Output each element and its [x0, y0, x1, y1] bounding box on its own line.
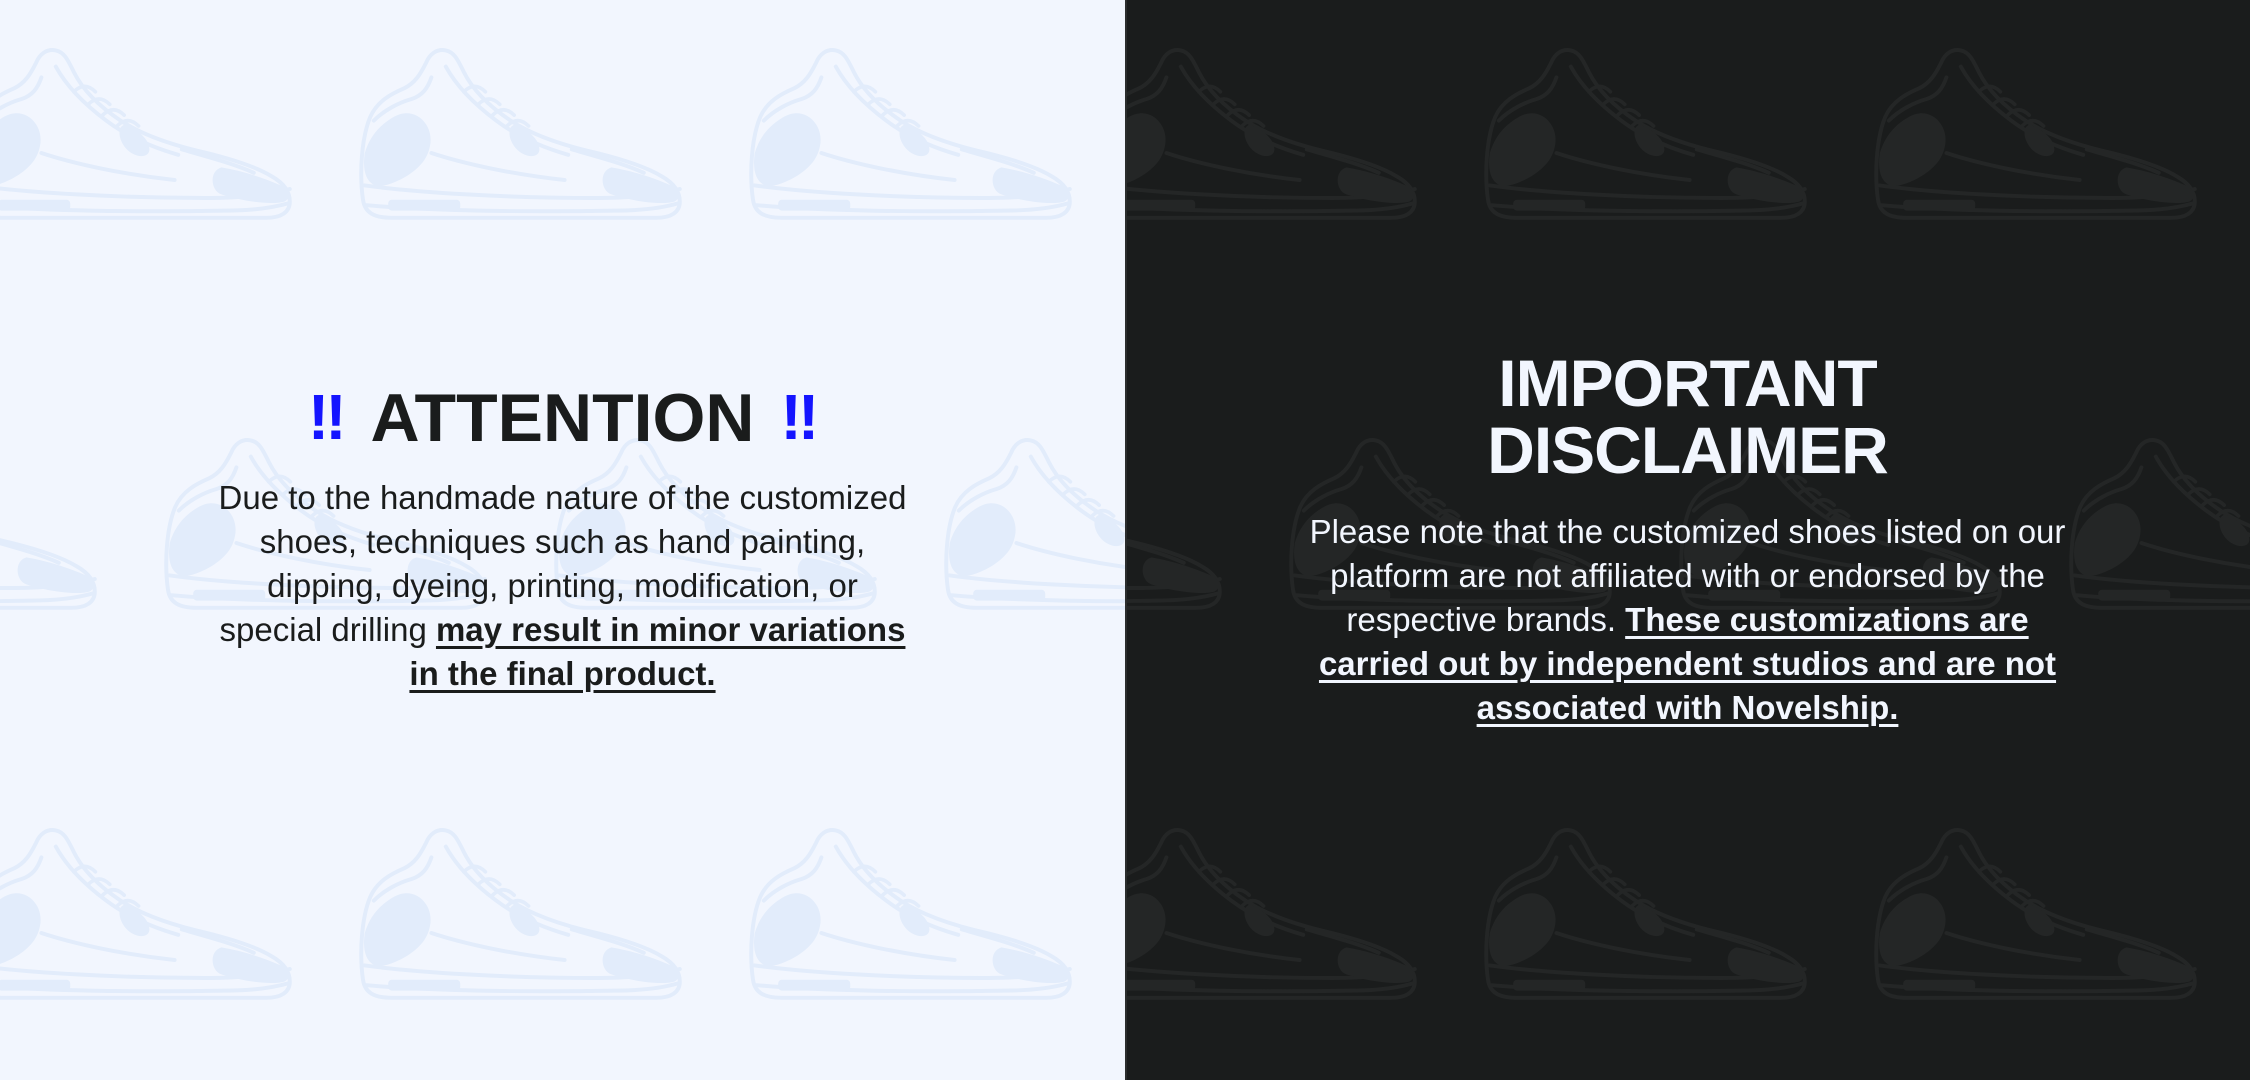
left-panel-content: ‼ ATTENTION ‼ Due to the handmade nature…: [0, 0, 1125, 1080]
panel-divider: [1125, 0, 1127, 1080]
disclaimer-heading: IMPORTANT DISCLAIMER: [1487, 350, 1888, 485]
disclaimer-panel: IMPORTANT DISCLAIMER Please note that th…: [1125, 0, 2250, 1080]
double-exclamation-left-icon: ‼: [308, 385, 345, 449]
disclaimer-banner: ‼ ATTENTION ‼ Due to the handmade nature…: [0, 0, 2255, 1080]
right-panel-content: IMPORTANT DISCLAIMER Please note that th…: [1125, 0, 2250, 1080]
attention-panel: ‼ ATTENTION ‼ Due to the handmade nature…: [0, 0, 1125, 1080]
double-exclamation-right-icon: ‼: [781, 385, 818, 449]
disclaimer-body: Please note that the customized shoes li…: [1288, 510, 2088, 730]
attention-heading-text: ATTENTION: [370, 384, 754, 453]
attention-heading: ‼ ATTENTION ‼: [308, 384, 817, 453]
attention-body-emphasis: may result in minor variations in the fi…: [409, 611, 905, 692]
disclaimer-heading-line-1: IMPORTANT: [1498, 346, 1876, 420]
attention-body: Due to the handmade nature of the custom…: [213, 476, 913, 696]
disclaimer-heading-line-2: DISCLAIMER: [1487, 413, 1888, 487]
